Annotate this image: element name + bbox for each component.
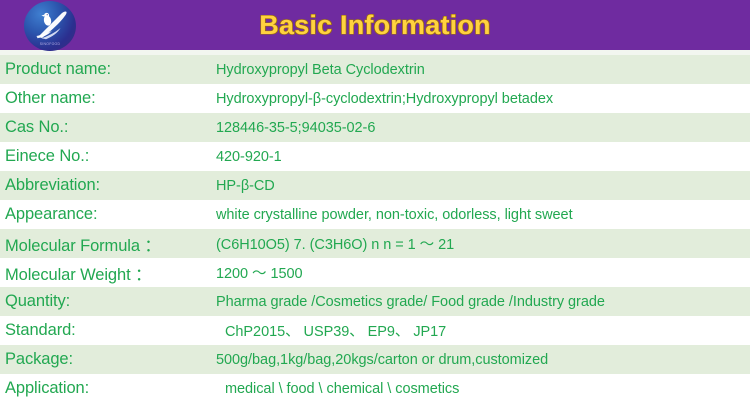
table-row: Abbreviation: HP-β-CD — [0, 171, 750, 200]
row-label: Other name: — [0, 84, 213, 113]
table-row: Product name: Hydroxypropyl Beta Cyclode… — [0, 55, 750, 84]
table-row: Application: medical \ food \ chemical \… — [0, 374, 750, 400]
row-value: 128446-35-5;94035-02-6 — [213, 113, 750, 142]
table-row: Molecular Formula ： (C6H10O5) 7. (C3H6O)… — [0, 229, 750, 258]
page-title: Basic Information — [0, 10, 750, 41]
row-value: (C6H10O5) 7. (C3H6O) n n = 1 ～ 21 — [213, 229, 750, 258]
row-value: HP-β-CD — [213, 171, 750, 200]
row-value: ChP2015、 USP39、 EP9、 JP17 — [213, 316, 750, 345]
row-label: Molecular Weight ： — [0, 258, 213, 287]
row-label: Quantity: — [0, 287, 213, 316]
row-value: medical \ food \ chemical \ cosmetics — [213, 374, 750, 400]
row-value: 1200 ～ 1500 — [213, 258, 750, 287]
row-label: Cas No.: — [0, 113, 213, 142]
row-label: Standard: — [0, 316, 213, 345]
table-row: Package: 500g/bag,1kg/bag,20kgs/carton o… — [0, 345, 750, 374]
row-value: Pharma grade /Cosmetics grade/ Food grad… — [213, 287, 750, 316]
table-row: Cas No.: 128446-35-5;94035-02-6 — [0, 113, 750, 142]
row-label: Molecular Formula ： — [0, 229, 213, 258]
logo-caption: SINOFOOD — [24, 42, 76, 46]
table-row: Einece No.: 420-920-1 — [0, 142, 750, 171]
row-label: Application: — [0, 374, 213, 400]
page-header: SINOFOOD Basic Information — [0, 0, 750, 50]
row-label: Abbreviation: — [0, 171, 213, 200]
row-value: Hydroxypropyl-β-cyclodextrin;Hydroxyprop… — [213, 84, 750, 113]
basic-information-page: SINOFOOD Basic Information Product name:… — [0, 0, 750, 400]
table-row: Quantity: Pharma grade /Cosmetics grade/… — [0, 287, 750, 316]
table-row: Molecular Weight ： 1200 ～ 1500 — [0, 258, 750, 287]
table-row: Standard: ChP2015、 USP39、 EP9、 JP17 — [0, 316, 750, 345]
row-label: Product name: — [0, 55, 213, 84]
specification-table: Product name: Hydroxypropyl Beta Cyclode… — [0, 55, 750, 400]
row-label: Einece No.: — [0, 142, 213, 171]
row-label: Appearance: — [0, 200, 213, 229]
table-row: Other name: Hydroxypropyl-β-cyclodextrin… — [0, 84, 750, 113]
row-value: 500g/bag,1kg/bag,20kgs/carton or drum,cu… — [213, 345, 750, 374]
row-value: white crystalline powder, non-toxic, odo… — [213, 200, 750, 229]
specification-table-body: Product name: Hydroxypropyl Beta Cyclode… — [0, 55, 750, 400]
company-logo: SINOFOOD — [24, 1, 76, 51]
row-value: 420-920-1 — [213, 142, 750, 171]
row-label: Package: — [0, 345, 213, 374]
row-value: Hydroxypropyl Beta Cyclodextrin — [213, 55, 750, 84]
table-row: Appearance: white crystalline powder, no… — [0, 200, 750, 229]
